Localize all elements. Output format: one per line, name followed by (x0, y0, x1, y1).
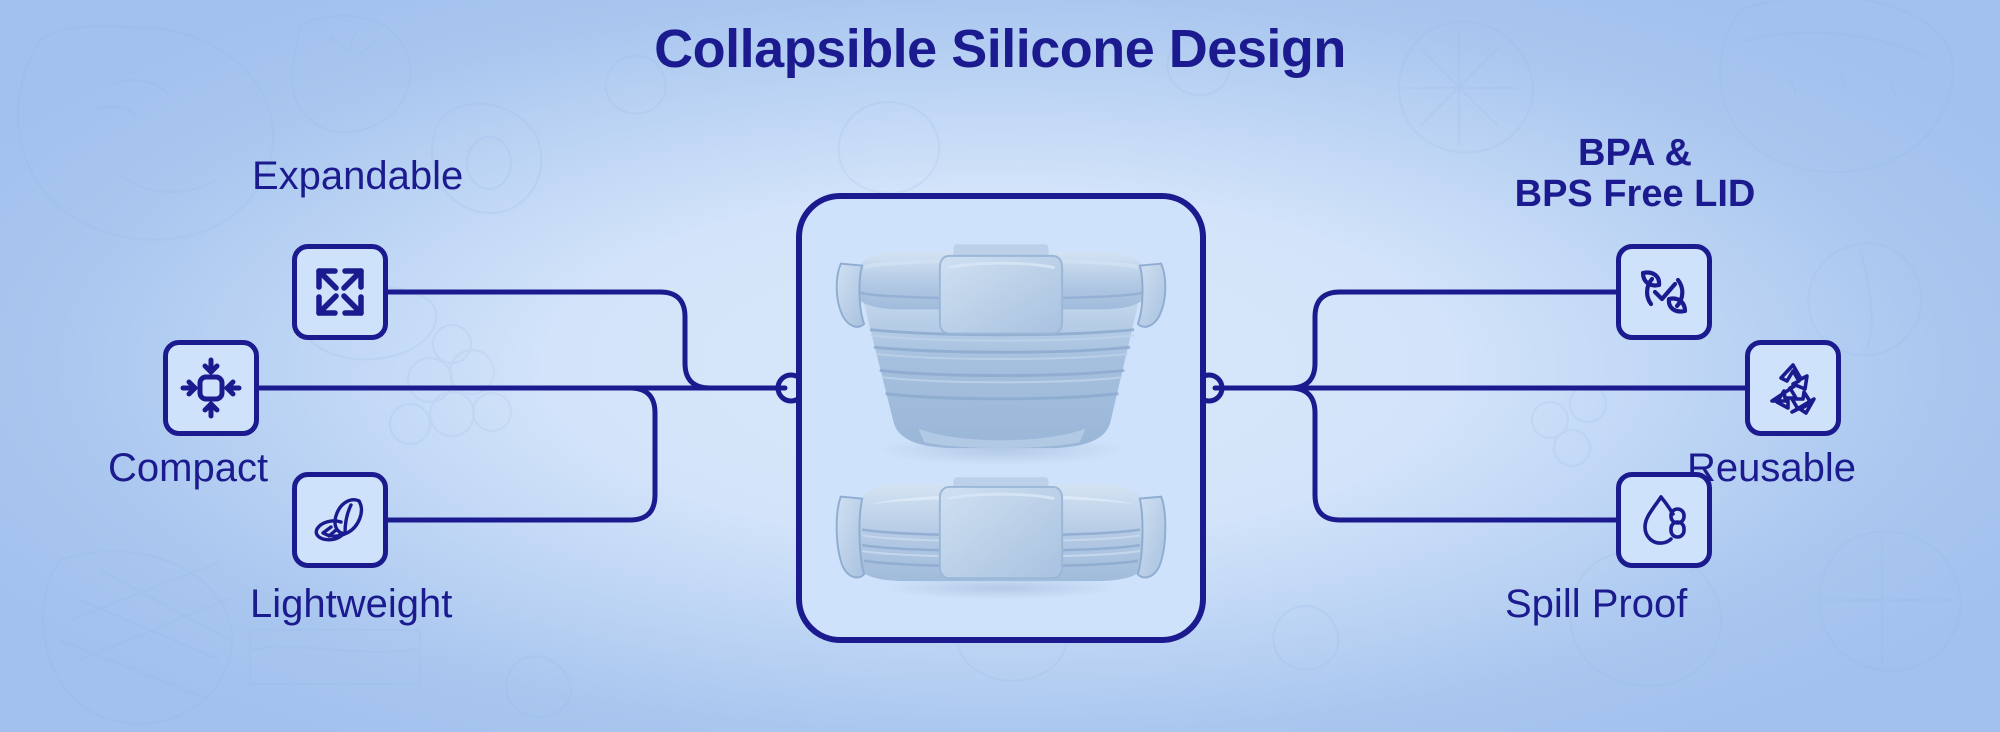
feature-label-compact: Compact (108, 447, 268, 490)
feature-tile-reusable[interactable] (1745, 340, 1841, 436)
feature-label-bpa-free-line2: BPS Free LID (1490, 174, 1780, 215)
feature-label-spill-proof: Spill Proof (1505, 583, 1687, 626)
eco-check-leaf-icon (1633, 261, 1695, 323)
recycle-icon (1762, 357, 1824, 419)
feature-tile-bpa-free[interactable] (1616, 244, 1712, 340)
product-view-expanded (837, 244, 1166, 465)
water-drop-lock-icon (1633, 489, 1695, 551)
feature-tile-spill-proof[interactable] (1616, 472, 1712, 568)
product-view-collapsed (837, 477, 1166, 599)
feature-tile-expandable[interactable] (292, 244, 388, 340)
feature-label-lightweight: Lightweight (250, 583, 452, 626)
feature-label-expandable: Expandable (252, 155, 463, 198)
product-image-card (796, 193, 1206, 643)
feature-label-reusable: Reusable (1687, 447, 1856, 490)
feature-tile-lightweight[interactable] (292, 472, 388, 568)
feature-tile-compact[interactable] (163, 340, 259, 436)
page-title: Collapsible Silicone Design (0, 18, 2000, 80)
feature-label-bpa-free-line1: BPA & (1490, 133, 1780, 174)
infographic-canvas: Collapsible Silicone Design Expandable C… (0, 0, 2000, 732)
compress-arrows-icon (179, 356, 243, 420)
feather-icon (309, 489, 371, 551)
feature-label-bpa-free: BPA & BPS Free LID (1490, 133, 1780, 215)
expand-arrows-icon (309, 261, 371, 323)
collapsible-silicone-container-illustration (802, 199, 1200, 637)
